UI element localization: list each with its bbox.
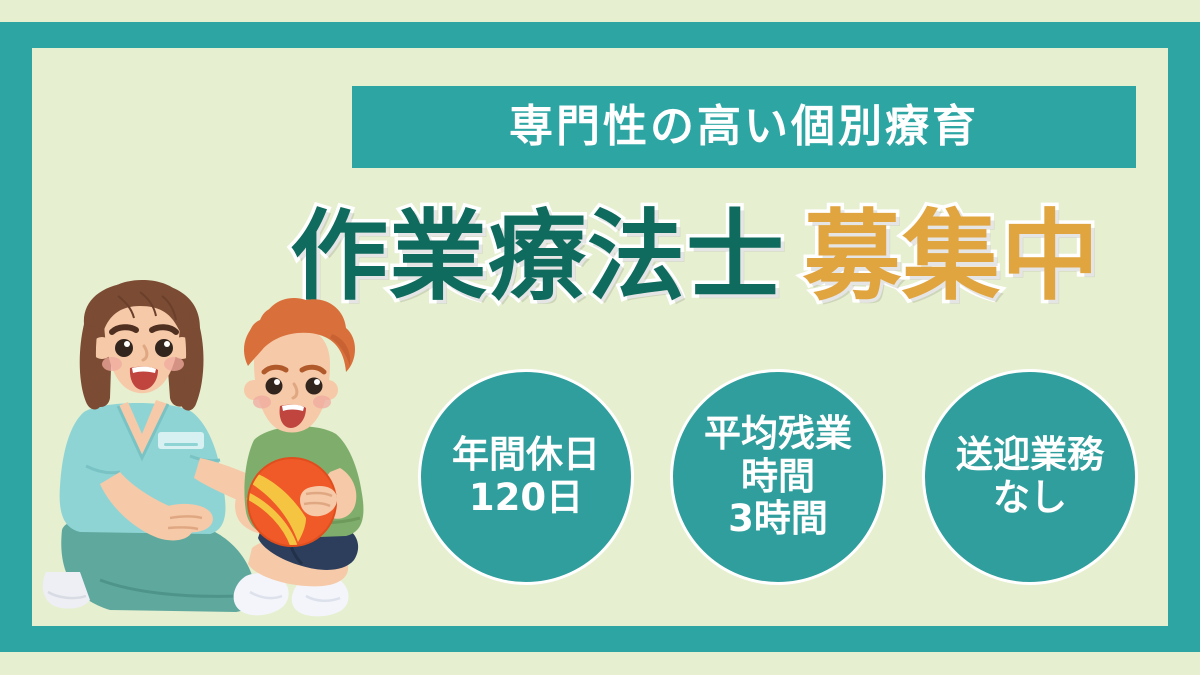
badge-line: 送迎業務 [956, 434, 1104, 477]
boy-eye-right [306, 378, 323, 395]
benefit-badges: 年間休日 120日 平均残業 時間 3時間 送迎業務 なし [418, 366, 1138, 588]
boy-cheek-left [253, 396, 271, 409]
therapist-eye-left [115, 339, 133, 357]
boy-child-figure [234, 298, 364, 616]
badge-average-overtime: 平均残業 時間 3時間 [670, 369, 886, 585]
subheadline-bar: 専門性の高い個別療育 [352, 86, 1136, 168]
badge-line: 120日 [469, 477, 583, 520]
therapist-name-tag [158, 432, 204, 449]
therapist-eye-right-highlight [164, 341, 170, 347]
badge-line: なし [993, 477, 1067, 520]
badge-line: 3時間 [728, 498, 828, 541]
headline-recruiting-label: 募集中 [803, 208, 1100, 306]
badge-line: 時間 [741, 456, 815, 499]
name-tag-line [164, 443, 198, 446]
boy-eye-left [266, 378, 283, 395]
badge-line: 年間休日 [452, 434, 600, 477]
therapist-cheek-right [164, 357, 184, 371]
therapist-eye-left-highlight [124, 341, 130, 347]
subheadline-text: 専門性の高い個別療育 [509, 105, 979, 149]
badge-annual-holidays: 年間休日 120日 [418, 369, 634, 585]
boy-cheek-right [313, 396, 331, 409]
boy-eye-left-highlight [274, 379, 280, 385]
therapist-eye-right [155, 339, 173, 357]
recruitment-banner: 専門性の高い個別療育 作業療法士 募集中 年間休日 120日 平均残業 時間 3… [0, 0, 1200, 675]
badge-line: 平均残業 [704, 413, 852, 456]
boy-eye-right-highlight [314, 379, 320, 385]
therapist-cheek-left [102, 357, 122, 371]
illustration-therapist-and-child [40, 280, 420, 626]
badge-no-transport-duty: 送迎業務 なし [922, 369, 1138, 585]
